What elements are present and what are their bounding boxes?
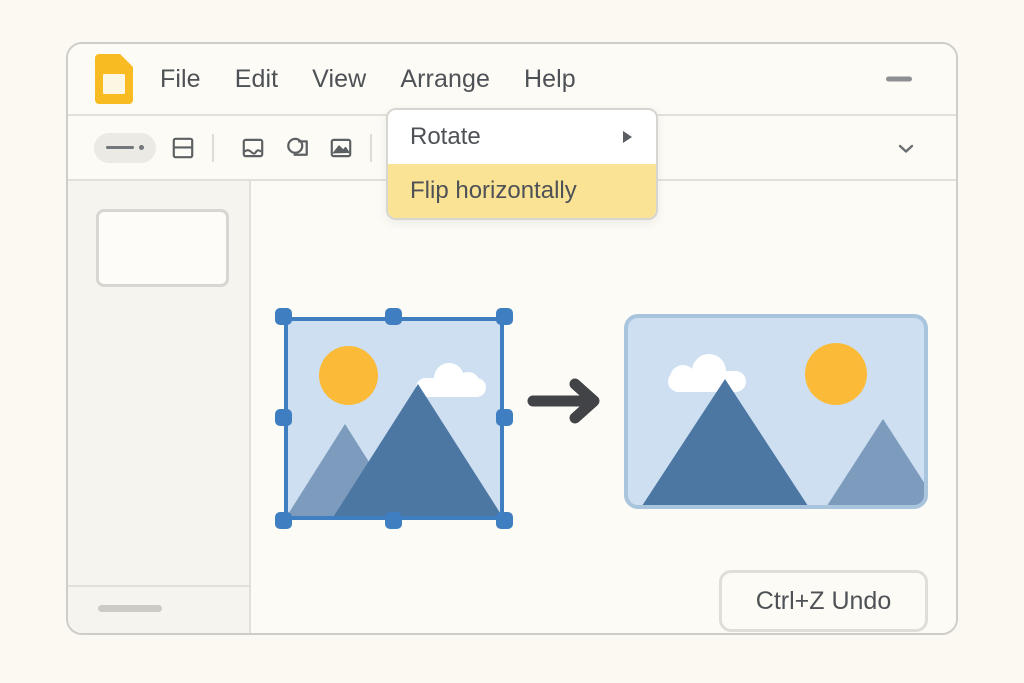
selection-handle-nw[interactable] [275,308,292,325]
sidebar-drag-handle[interactable] [98,605,162,612]
minimize-icon[interactable] [886,77,912,82]
slides-document-icon [92,54,136,104]
menu-edit[interactable]: Edit [233,63,280,96]
menu-file[interactable]: File [158,63,203,96]
undo-shortcut-label: Ctrl+Z Undo [756,587,891,616]
undo-shortcut-chip[interactable]: Ctrl+Z Undo [719,570,928,632]
app-window: File Edit View Arrange Help [66,42,958,635]
chevron-down-icon[interactable] [896,138,916,158]
menu-bar: File Edit View Arrange Help [68,44,956,116]
menu-option-rotate[interactable]: Rotate [388,110,656,164]
slide-sidebar [68,181,251,633]
result-mountain-back-shape [823,416,928,509]
slide-canvas[interactable]: Ctrl+Z Undo [251,181,956,633]
transform-arrow-icon [527,373,605,429]
selection-handle-se[interactable] [496,512,513,529]
result-mountain-front-shape [638,376,812,509]
menu-arrange[interactable]: Arrange [398,63,492,96]
sidebar-footer [68,585,249,633]
toolbar-separator-2 [370,134,372,162]
selection-handle-e[interactable] [496,409,513,426]
submenu-arrow-icon [623,131,632,143]
slide-thumbnail-1[interactable] [96,209,229,287]
picture-icon[interactable] [324,131,358,165]
layout-split-icon[interactable] [166,131,200,165]
result-sun-shape [805,343,867,405]
arrange-dropdown-menu: Rotate Flip horizontally [386,108,658,220]
selection-handle-ne[interactable] [496,308,513,325]
selection-handle-n[interactable] [385,308,402,325]
selection-handle-sw[interactable] [275,512,292,529]
toolbar-separator-1 [212,134,214,162]
menu-option-flip-horizontally[interactable]: Flip horizontally [388,164,656,218]
menu-item-list: File Edit View Arrange Help [158,63,578,96]
menu-view[interactable]: View [310,63,368,96]
selection-frame[interactable] [284,317,504,520]
selection-handle-s[interactable] [385,512,402,529]
insert-image-icon[interactable] [236,131,270,165]
menu-option-rotate-label: Rotate [410,123,481,151]
selection-handle-w[interactable] [275,409,292,426]
result-image-after[interactable] [624,314,928,509]
line-with-endpoint-icon[interactable] [94,133,156,163]
menu-help[interactable]: Help [522,63,578,96]
shapes-icon[interactable] [280,131,314,165]
menu-option-flip-horizontally-label: Flip horizontally [410,177,577,205]
workspace: Ctrl+Z Undo [68,181,956,633]
